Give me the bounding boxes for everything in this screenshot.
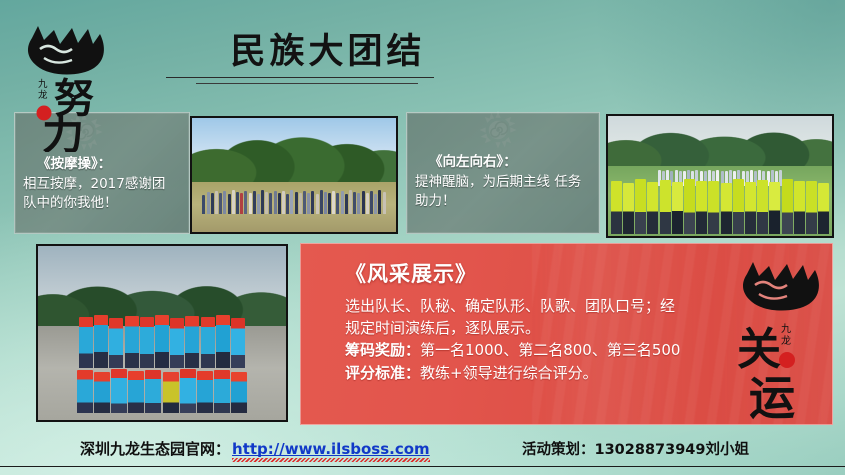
title-divider-upper [166, 77, 434, 78]
spellcheck-squiggle [232, 458, 430, 462]
footer-website-block: 深圳九龙生态园官网：http://www.ilsboss.com [80, 438, 430, 459]
svg-text:龙: 龙 [781, 334, 791, 347]
panel-mid-heading: 《向左向右》： [415, 153, 593, 172]
presentation-slide: 九 龙 努 力 民族大团结 [0, 0, 845, 475]
svg-text:九: 九 [781, 323, 791, 335]
seal-dot [779, 352, 795, 368]
footer-contact-block: 活动策划：13028873949刘小姐 [522, 438, 749, 459]
panel-left-line1: 相互按摩，2017感谢团 [23, 176, 165, 192]
crowd-back-row [38, 309, 286, 368]
photo-team-circle [190, 116, 398, 234]
red-panel-line4-label: 评分标准： [345, 364, 420, 382]
photo-blue-team-pose [36, 244, 288, 422]
photo-yellow-team [606, 114, 834, 238]
crowd-figures [192, 182, 396, 214]
slide-footer: 深圳九龙生态园官网：http://www.ilsboss.com 活动策划：13… [0, 427, 845, 475]
official-website-link[interactable]: http://www.ilsboss.com [232, 440, 430, 458]
svg-text:九: 九 [38, 78, 48, 90]
title-divider-lower [196, 83, 418, 84]
crowd-front-row [38, 364, 286, 413]
svg-text:运: 运 [749, 371, 795, 420]
crowd-near-ring [608, 176, 832, 234]
svg-text:关: 关 [737, 324, 781, 375]
jiulong-guanyun-seal-logo: 九 龙 关 运 [731, 252, 827, 420]
panel-mid-line1: 提神醒脑，为后期主线 [415, 174, 550, 190]
svg-text:龙: 龙 [38, 89, 48, 101]
footer-contact-label: 活动策划： [522, 442, 595, 458]
panel-left-heading: 《按摩操》： [23, 155, 183, 174]
red-panel-line4-value: 教练+领导进行综合评分。 [420, 364, 598, 382]
panel-left-line2: 队中的你我他！ [23, 195, 118, 211]
footer-contact-value: 13028873949刘小姐 [595, 442, 749, 458]
red-panel-line3-value: 第一名1000、第二名800、第三名500 [420, 341, 680, 359]
red-panel-line3-label: 筹码奖励： [345, 341, 420, 359]
footer-divider [0, 466, 845, 467]
panel-left-right-game: 《向左向右》： 提神醒脑，为后期主线 任务助力！ [406, 112, 600, 234]
jiulong-nuli-seal-logo: 九 龙 努 力 [14, 16, 124, 152]
svg-text:力: 力 [42, 110, 84, 152]
slide-title-block: 民族大团结 [178, 34, 478, 84]
page-title: 民族大团结 [178, 34, 478, 71]
footer-website-label: 深圳九龙生态园官网： [80, 440, 230, 458]
